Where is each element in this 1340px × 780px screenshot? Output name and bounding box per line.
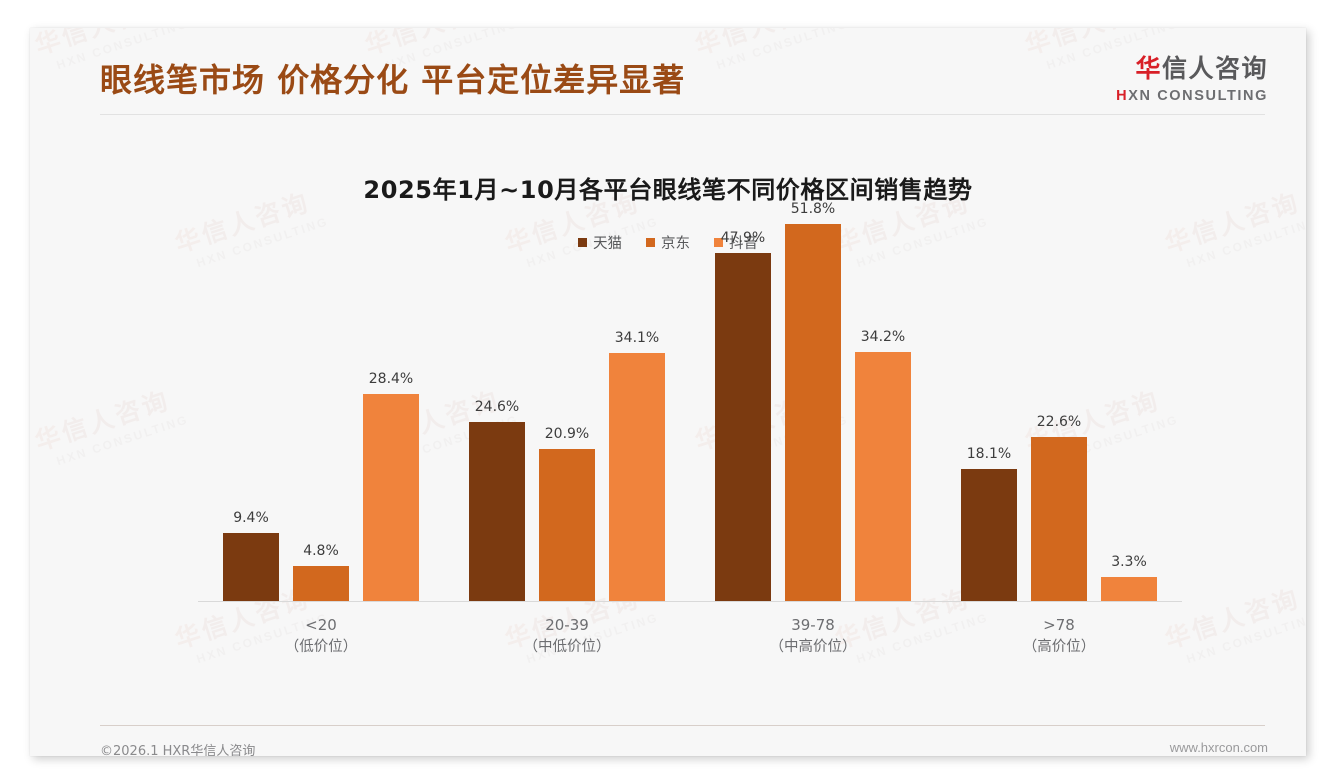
brand-logo: 华信人咨询 HXN CONSULTING (1116, 56, 1268, 104)
bar-京东-20-39[interactable]: 20.9% (539, 180, 595, 601)
footer-website[interactable]: www.hxrcon.com (1170, 740, 1268, 755)
bar-rect[interactable] (961, 469, 1017, 601)
bar-value-label: 28.4% (369, 371, 413, 387)
x-axis-label-sub: （低价位） (198, 637, 444, 658)
bar-京东-<20[interactable]: 4.8% (293, 180, 349, 601)
bar-rect[interactable] (1101, 577, 1157, 601)
bar-value-label: 51.8% (791, 201, 835, 217)
bar-value-label: 9.4% (233, 510, 269, 526)
bar-rect[interactable] (539, 449, 595, 601)
bar-京东-39-78[interactable]: 51.8% (785, 180, 841, 601)
footer-copyright: ©2026.1 HXR华信人咨询 (100, 740, 255, 756)
bar-rect[interactable] (293, 566, 349, 601)
brand-logo-en-accent: H (1116, 88, 1128, 104)
x-axis-label-main: 20-39 (545, 616, 589, 634)
footer-divider (100, 725, 1265, 726)
bar-天猫-<20[interactable]: 9.4% (223, 180, 279, 601)
bar-value-label: 22.6% (1037, 414, 1081, 430)
bar-rect[interactable] (855, 352, 911, 601)
brand-logo-cn: 华信人咨询 (1116, 56, 1268, 81)
bar-value-label: 3.3% (1111, 554, 1147, 570)
x-axis-label-sub: （高价位） (936, 637, 1182, 658)
bar-rect[interactable] (363, 394, 419, 601)
brand-logo-cn-rest: 信人咨询 (1162, 54, 1268, 83)
slide-header: 眼线笔市场 价格分化 平台定位差异显著 华信人咨询 HXN CONSULTING (30, 28, 1306, 120)
bar-rect[interactable] (223, 533, 279, 601)
bar-抖音-20-39[interactable]: 34.1% (609, 180, 665, 601)
bar-抖音-<20[interactable]: 28.4% (363, 180, 419, 601)
brand-logo-en: HXN CONSULTING (1116, 89, 1268, 104)
slide-card: 华信人咨询HXN CONSULTING华信人咨询HXN CONSULTING华信… (30, 28, 1306, 756)
bar-value-label: 18.1% (967, 446, 1011, 462)
bar-天猫->78[interactable]: 18.1% (961, 180, 1017, 601)
x-axis-label-main: <20 (305, 616, 337, 634)
bar-value-label: 34.1% (615, 330, 659, 346)
bar-group-20-39: 24.6%20.9%34.1%20-39（中低价位） (444, 180, 690, 601)
bar-groups: 9.4%4.8%28.4%<20（低价位）24.6%20.9%34.1%20-3… (198, 180, 1182, 601)
bar-rect[interactable] (785, 224, 841, 601)
bar-rect[interactable] (469, 422, 525, 601)
bar-value-label: 24.6% (475, 399, 519, 415)
x-axis-label-39-78: 39-78（中高价位） (690, 615, 936, 658)
x-axis-label->78: >78（高价位） (936, 615, 1182, 658)
x-axis-label-<20: <20（低价位） (198, 615, 444, 658)
bar-天猫-39-78[interactable]: 47.9% (715, 180, 771, 601)
bar-抖音-39-78[interactable]: 34.2% (855, 180, 911, 601)
x-axis-label-20-39: 20-39（中低价位） (444, 615, 690, 658)
x-axis-label-main: 39-78 (791, 616, 835, 634)
x-axis-label-sub: （中低价位） (444, 637, 690, 658)
bar-抖音->78[interactable]: 3.3% (1101, 180, 1157, 601)
bar-group->78: 18.1%22.6%3.3%>78（高价位） (936, 180, 1182, 601)
x-axis-label-main: >78 (1043, 616, 1075, 634)
page-title: 眼线笔市场 价格分化 平台定位差异显著 (100, 55, 685, 101)
bar-京东->78[interactable]: 22.6% (1031, 180, 1087, 601)
bar-value-label: 47.9% (721, 230, 765, 246)
brand-logo-cn-accent: 华 (1135, 54, 1162, 83)
bar-rect[interactable] (609, 353, 665, 601)
bar-value-label: 4.8% (303, 543, 339, 559)
bar-rect[interactable] (1031, 437, 1087, 601)
bar-group-39-78: 47.9%51.8%34.2%39-78（中高价位） (690, 180, 936, 601)
bar-value-label: 20.9% (545, 426, 589, 442)
chart-container: 2025年1月~10月各平台眼线笔不同价格区间销售趋势 天猫京东抖音 9.4%4… (30, 120, 1306, 712)
chart-plot-area: 9.4%4.8%28.4%<20（低价位）24.6%20.9%34.1%20-3… (170, 180, 1196, 662)
x-axis-label-sub: （中高价位） (690, 637, 936, 658)
bar-value-label: 34.2% (861, 329, 905, 345)
bar-天猫-20-39[interactable]: 24.6% (469, 180, 525, 601)
bar-group-<20: 9.4%4.8%28.4%<20（低价位） (198, 180, 444, 601)
brand-logo-en-rest: XN CONSULTING (1128, 88, 1268, 104)
bar-rect[interactable] (715, 253, 771, 602)
title-divider (100, 114, 1265, 115)
x-axis-line (198, 601, 1182, 602)
